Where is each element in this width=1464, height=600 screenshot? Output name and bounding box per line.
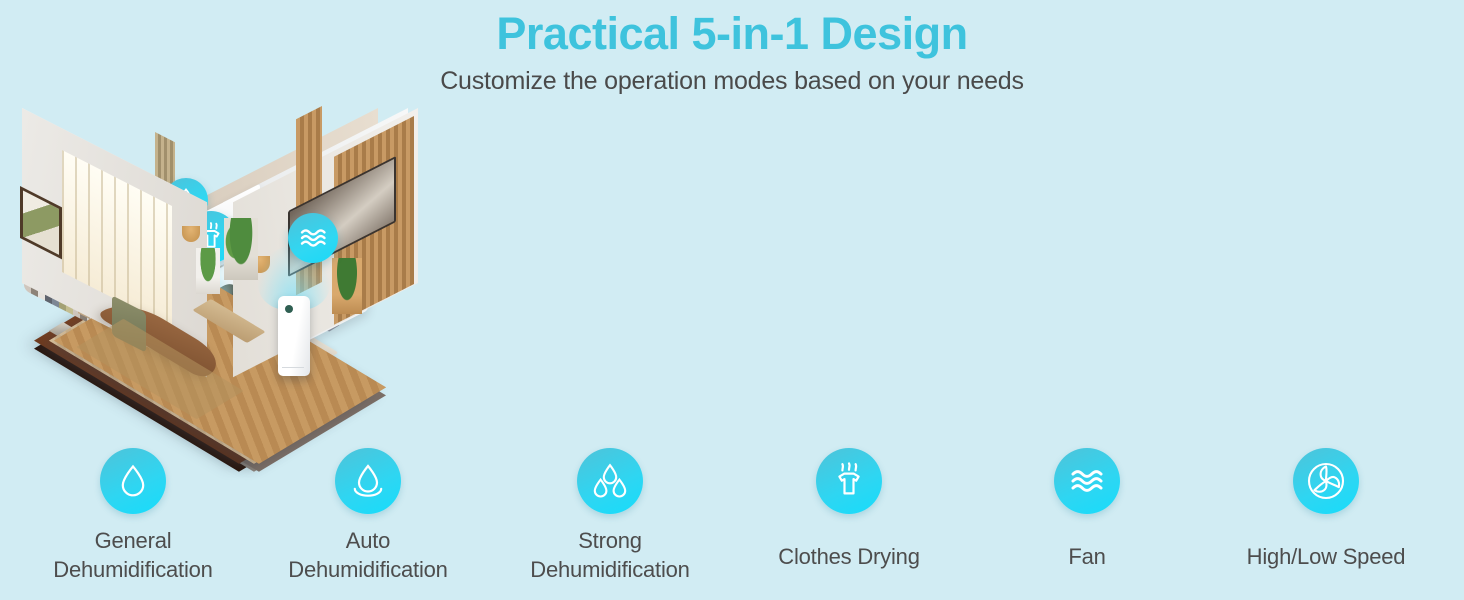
air-waves-icon	[1054, 448, 1120, 514]
dehumidifier-unit-living	[278, 296, 310, 376]
mode-label: Auto Dehumidification	[268, 526, 468, 584]
page-title: Practical 5-in-1 Design	[0, 8, 1464, 60]
mode-legend: General Dehumidification Auto Dehumidifi…	[0, 448, 1464, 600]
header: Practical 5-in-1 Design Customize the op…	[0, 0, 1464, 97]
drying-shirt-icon	[816, 448, 882, 514]
mode-label: General Dehumidification	[33, 526, 233, 584]
scenes-strip	[0, 98, 1464, 448]
mode-label: Strong Dehumidification	[510, 526, 710, 584]
page-subtitle: Customize the operation modes based on y…	[0, 65, 1464, 98]
mode-general-dehumidification[interactable]: General Dehumidification	[33, 448, 233, 584]
floor-plant-large	[224, 218, 258, 280]
plant-right-corner	[332, 258, 362, 314]
mode-label: Fan	[987, 542, 1187, 571]
mode-high-low-speed[interactable]: High/Low Speed	[1226, 448, 1426, 571]
scene-living-room	[0, 98, 440, 448]
water-drop-icon	[100, 448, 166, 514]
mode-clothes-drying[interactable]: Clothes Drying	[749, 448, 949, 571]
living-room-shell	[0, 98, 440, 448]
three-water-drops-icon	[577, 448, 643, 514]
mode-label: High/Low Speed	[1226, 542, 1426, 571]
badge-air-waves-icon	[288, 213, 338, 263]
mode-label: Clothes Drying	[749, 542, 949, 571]
plant-on-stand	[196, 248, 220, 294]
mode-strong-dehumidification[interactable]: Strong Dehumidification	[510, 448, 710, 584]
water-drop-bowl-icon	[335, 448, 401, 514]
fan-blades-icon	[1293, 448, 1359, 514]
mode-auto-dehumidification[interactable]: Auto Dehumidification	[268, 448, 468, 584]
mode-fan[interactable]: Fan	[987, 448, 1187, 571]
